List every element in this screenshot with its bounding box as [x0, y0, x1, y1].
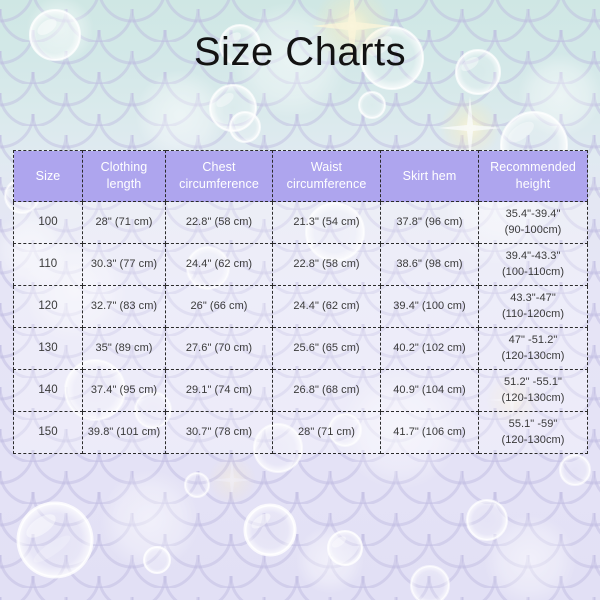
cell-recommended-height: 51.2" -55.1"(120-130cm) [479, 370, 588, 412]
table-row: 15039.8" (101 cm)30.7" (78 cm)28" (71 cm… [14, 412, 588, 454]
table-header: Size Clothing length Chest circumference… [14, 151, 588, 202]
cell-recommended-height: 47" -51.2"(120-130cm) [479, 328, 588, 370]
table-row: 10028" (71 cm)22.8" (58 cm)21.3" (54 cm)… [14, 202, 588, 244]
height-centimeters: (90-100cm) [482, 223, 584, 239]
cell-skirt-hem: 39.4" (100 cm) [381, 286, 479, 328]
table-row: 13035" (89 cm)27.6" (70 cm)25.6" (65 cm)… [14, 328, 588, 370]
cell-skirt-hem: 38.6" (98 cm) [381, 244, 479, 286]
column-header-recommended-height: Recommended height [479, 151, 588, 202]
cell-clothing-length: 32.7" (83 cm) [83, 286, 166, 328]
cell-waist: 21.3" (54 cm) [273, 202, 381, 244]
cell-clothing-length: 39.8" (101 cm) [83, 412, 166, 454]
cell-chest: 24.4" (62 cm) [166, 244, 273, 286]
height-inches: 43.3"-47" [482, 291, 584, 307]
column-header-waist: Waist circumference [273, 151, 381, 202]
cell-skirt-hem: 41.7" (106 cm) [381, 412, 479, 454]
height-inches: 35.4"-39.4" [482, 207, 584, 223]
height-centimeters: (100-110cm) [482, 265, 584, 281]
cell-waist: 22.8" (58 cm) [273, 244, 381, 286]
height-centimeters: (120-130cm) [482, 349, 584, 365]
cell-waist: 25.6" (65 cm) [273, 328, 381, 370]
cell-size: 150 [14, 412, 83, 454]
cell-chest: 30.7" (78 cm) [166, 412, 273, 454]
sparkle-icon-4 [208, 456, 256, 504]
table-row: 14037.4" (95 cm)29.1" (74 cm)26.8" (68 c… [14, 370, 588, 412]
page-title: Size Charts [0, 30, 600, 75]
cell-recommended-height: 43.3"-47"(110-120cm) [479, 286, 588, 328]
cell-chest: 22.8" (58 cm) [166, 202, 273, 244]
cell-chest: 27.6" (70 cm) [166, 328, 273, 370]
cell-chest: 26" (66 cm) [166, 286, 273, 328]
cell-waist: 26.8" (68 cm) [273, 370, 381, 412]
height-centimeters: (120-130cm) [482, 391, 584, 407]
height-inches: 55.1" -59" [482, 417, 584, 433]
cell-clothing-length: 37.4" (95 cm) [83, 370, 166, 412]
height-centimeters: (120-130cm) [482, 433, 584, 449]
cell-waist: 24.4" (62 cm) [273, 286, 381, 328]
cell-skirt-hem: 40.9" (104 cm) [381, 370, 479, 412]
size-chart-table: Size Clothing length Chest circumference… [13, 150, 588, 454]
cell-recommended-height: 55.1" -59"(120-130cm) [479, 412, 588, 454]
height-inches: 39.4"-43.3" [482, 249, 584, 265]
cell-clothing-length: 30.3" (77 cm) [83, 244, 166, 286]
cell-clothing-length: 28" (71 cm) [83, 202, 166, 244]
column-header-size: Size [14, 151, 83, 202]
height-inches: 51.2" -55.1" [482, 375, 584, 391]
cell-skirt-hem: 40.2" (102 cm) [381, 328, 479, 370]
height-centimeters: (110-120cm) [482, 307, 584, 323]
cell-size: 100 [14, 202, 83, 244]
cell-waist: 28" (71 cm) [273, 412, 381, 454]
cell-chest: 29.1" (74 cm) [166, 370, 273, 412]
table-row: 11030.3" (77 cm)24.4" (62 cm)22.8" (58 c… [14, 244, 588, 286]
table-body: 10028" (71 cm)22.8" (58 cm)21.3" (54 cm)… [14, 202, 588, 454]
cell-recommended-height: 39.4"-43.3"(100-110cm) [479, 244, 588, 286]
size-chart-table-container: Size Clothing length Chest circumference… [13, 150, 587, 454]
table-row: 12032.7" (83 cm)26" (66 cm)24.4" (62 cm)… [14, 286, 588, 328]
column-header-clothing-length: Clothing length [83, 151, 166, 202]
cell-size: 130 [14, 328, 83, 370]
column-header-chest: Chest circumference [166, 151, 273, 202]
height-inches: 47" -51.2" [482, 333, 584, 349]
column-header-skirt-hem: Skirt hem [381, 151, 479, 202]
cell-size: 140 [14, 370, 83, 412]
cell-recommended-height: 35.4"-39.4"(90-100cm) [479, 202, 588, 244]
cell-skirt-hem: 37.8" (96 cm) [381, 202, 479, 244]
cell-size: 120 [14, 286, 83, 328]
table-header-row: Size Clothing length Chest circumference… [14, 151, 588, 202]
cell-size: 110 [14, 244, 83, 286]
cell-clothing-length: 35" (89 cm) [83, 328, 166, 370]
